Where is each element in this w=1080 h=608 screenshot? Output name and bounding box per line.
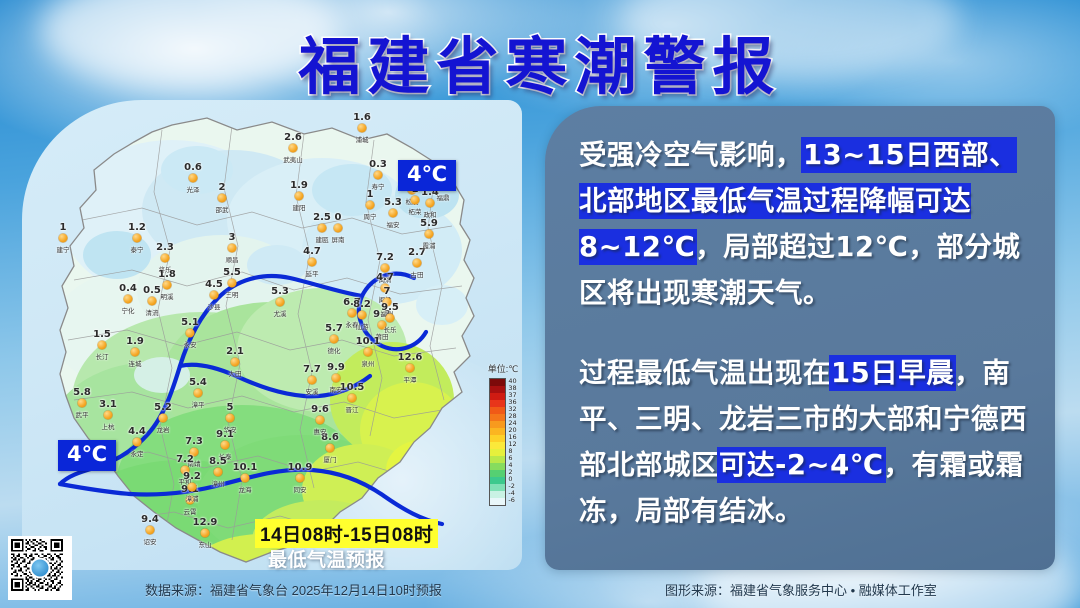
station-dot bbox=[231, 358, 240, 367]
legend-swatch bbox=[490, 442, 505, 449]
station-temperature: 3 bbox=[229, 232, 236, 243]
station-temperature: 2.5 bbox=[313, 212, 331, 223]
station-name: 清流 bbox=[146, 307, 159, 317]
station-dot bbox=[133, 438, 142, 447]
station-name: 大田 bbox=[229, 368, 242, 378]
station-name: 泰宁 bbox=[131, 244, 144, 254]
station-name: 同安 bbox=[294, 484, 307, 494]
station-temperature: 5.1 bbox=[181, 317, 199, 328]
station-dot bbox=[228, 244, 237, 253]
station-name: 武平 bbox=[76, 409, 89, 419]
qr-code[interactable] bbox=[8, 536, 72, 600]
station-temperature: 10.5 bbox=[340, 382, 365, 393]
station-name: 漳州 bbox=[212, 478, 225, 488]
station-dot bbox=[348, 394, 357, 403]
station-name: 三明 bbox=[226, 289, 239, 299]
station-name: 厦门 bbox=[324, 454, 337, 464]
station-name: 福安 bbox=[387, 219, 400, 229]
legend-tick-label: -6 bbox=[508, 497, 516, 504]
station-name: 光泽 bbox=[187, 184, 200, 194]
station-temperature: 9.5 bbox=[381, 302, 399, 313]
highlighted-text: 可达-2~4℃ bbox=[719, 449, 884, 481]
legend-swatch bbox=[490, 428, 505, 435]
station-dot bbox=[161, 254, 170, 263]
station-temperature: 0.6 bbox=[184, 162, 202, 173]
station-dot bbox=[131, 348, 140, 357]
station-temperature: 2 bbox=[219, 182, 226, 193]
legend-swatch bbox=[490, 484, 505, 491]
station-temperature: 4.7 bbox=[303, 246, 321, 257]
station-temperature: 12.9 bbox=[193, 517, 218, 528]
station-temperature: 5.9 bbox=[420, 218, 438, 229]
temperature-callout: 4℃ bbox=[398, 160, 456, 191]
qr-center-logo bbox=[30, 558, 51, 579]
station-name: 长乐 bbox=[384, 324, 397, 334]
station-name: 龙海 bbox=[239, 484, 252, 494]
station-name: 连城 bbox=[129, 358, 142, 368]
station-dot bbox=[426, 199, 435, 208]
station-name: 霞浦 bbox=[423, 240, 436, 250]
station-temperature: 9.1 bbox=[216, 429, 234, 440]
station-temperature: 8.2 bbox=[353, 299, 371, 310]
station-name: 长汀 bbox=[96, 351, 109, 361]
station-temperature: 5.5 bbox=[223, 267, 241, 278]
station-dot bbox=[186, 329, 195, 338]
station-dot bbox=[358, 124, 367, 133]
footer-graphic-source: 图形来源：福建省气象服务中心 • 融媒体工作室 bbox=[665, 580, 937, 599]
legend-ticks: 4038373632282420161286420-2-4-6 bbox=[508, 378, 516, 506]
legend-swatch bbox=[490, 435, 505, 442]
station-temperature: 2.1 bbox=[226, 346, 244, 357]
legend-swatch bbox=[490, 386, 505, 393]
station-dot bbox=[226, 414, 235, 423]
station-temperature: 9.4 bbox=[141, 514, 159, 525]
station-dot bbox=[334, 224, 343, 233]
station-dot bbox=[374, 171, 383, 180]
station-temperature: 12.6 bbox=[398, 352, 423, 363]
legend-colorbar bbox=[489, 378, 506, 506]
station-dot bbox=[148, 297, 157, 306]
station-temperature: 1.5 bbox=[93, 329, 111, 340]
station-name: 建瓯 bbox=[316, 234, 329, 244]
station-temperature: 5.7 bbox=[325, 323, 343, 334]
station-name: 安溪 bbox=[306, 386, 319, 396]
station-name: 漳平 bbox=[192, 399, 205, 409]
station-dot bbox=[241, 474, 250, 483]
station-temperature: 7.2 bbox=[176, 454, 194, 465]
station-dot bbox=[295, 192, 304, 201]
station-temperature: 1.8 bbox=[158, 269, 176, 280]
station-dot bbox=[228, 279, 237, 288]
station-dot bbox=[308, 258, 317, 267]
station-dot bbox=[194, 389, 203, 398]
station-dot bbox=[189, 174, 198, 183]
station-dot bbox=[366, 201, 375, 210]
station-temperature: 10.1 bbox=[356, 336, 381, 347]
station-dot bbox=[330, 335, 339, 344]
station-dot bbox=[389, 209, 398, 218]
station-name: 仙游 bbox=[356, 321, 369, 331]
station-temperature: 2.3 bbox=[156, 242, 174, 253]
station-name: 延平 bbox=[306, 268, 319, 278]
station-dot bbox=[201, 529, 210, 538]
legend-swatch bbox=[490, 491, 505, 498]
station-temperature: 5.8 bbox=[73, 387, 91, 398]
station-name: 上杭 bbox=[102, 421, 115, 431]
station-temperature: 5.3 bbox=[384, 197, 402, 208]
station-temperature: 4.4 bbox=[128, 426, 146, 437]
station-name: 永定 bbox=[131, 448, 144, 458]
station-dot bbox=[364, 348, 373, 357]
station-name: 建阳 bbox=[293, 202, 306, 212]
station-name: 福鼎 bbox=[437, 192, 450, 202]
station-dot bbox=[326, 444, 335, 453]
station-dot bbox=[59, 234, 68, 243]
station-dot bbox=[358, 311, 367, 320]
station-temperature: 7 bbox=[384, 286, 391, 297]
station-temperature: 2.6 bbox=[284, 132, 302, 143]
station-dot bbox=[210, 291, 219, 300]
station-name: 周宁 bbox=[364, 211, 377, 221]
infographic-root: 福建省寒潮警报 bbox=[0, 0, 1080, 608]
station-dot bbox=[218, 194, 227, 203]
station-temperature: 5 bbox=[227, 402, 234, 413]
station-temperature: 0.5 bbox=[143, 285, 161, 296]
station-dot bbox=[296, 474, 305, 483]
station-temperature: 5.4 bbox=[189, 377, 207, 388]
station-temperature: 1.6 bbox=[353, 112, 371, 123]
station-dot bbox=[221, 441, 230, 450]
station-name: 尤溪 bbox=[274, 308, 287, 318]
legend-swatch bbox=[490, 400, 505, 407]
station-dot bbox=[146, 526, 155, 535]
text-panel: 受强冷空气影响，13~15日西部、北部地区最低气温过程降幅可达8~12℃，局部超… bbox=[545, 106, 1055, 570]
station-dot bbox=[386, 314, 395, 323]
station-dot bbox=[159, 414, 168, 423]
station-dot bbox=[124, 295, 133, 304]
station-name: 晋江 bbox=[346, 404, 359, 414]
station-temperature: 1.2 bbox=[128, 222, 146, 233]
station-dot bbox=[78, 399, 87, 408]
station-temperature: 3.1 bbox=[99, 399, 117, 410]
legend-swatch bbox=[490, 498, 505, 505]
body-text: 过程最低气温出现在 bbox=[579, 357, 831, 389]
legend-swatch bbox=[490, 456, 505, 463]
station-name: 东山 bbox=[199, 539, 212, 549]
station-dot bbox=[289, 144, 298, 153]
station-name: 屏南 bbox=[332, 234, 345, 244]
legend-swatch bbox=[490, 477, 505, 484]
legend-swatch bbox=[490, 463, 505, 470]
station-name: 柘荣 bbox=[409, 206, 422, 216]
highlighted-text: 15日早晨 bbox=[831, 357, 954, 389]
station-temperature: 5.3 bbox=[271, 286, 289, 297]
station-temperature: 0.3 bbox=[369, 159, 387, 170]
station-dot bbox=[411, 196, 420, 205]
station-dot bbox=[276, 298, 285, 307]
station-name: 云霄 bbox=[184, 506, 197, 516]
station-name: 顺昌 bbox=[226, 254, 239, 264]
station-dot bbox=[163, 281, 172, 290]
station-dot bbox=[104, 411, 113, 420]
station-name: 诏安 bbox=[144, 536, 157, 546]
legend-swatch bbox=[490, 449, 505, 456]
station-temperature: 9.6 bbox=[311, 404, 329, 415]
station-name: 德化 bbox=[328, 345, 341, 355]
station-dot bbox=[214, 468, 223, 477]
paragraph-2: 过程最低气温出现在15日早晨，南平、三明、龙岩三市的大部和宁德西部北部城区可达-… bbox=[579, 350, 1031, 534]
station-temperature: 8.5 bbox=[209, 456, 227, 467]
station-temperature: 7.2 bbox=[376, 252, 394, 263]
legend-swatch bbox=[490, 379, 505, 386]
station-name: 浦城 bbox=[356, 134, 369, 144]
body-text: 受强冷空气影响， bbox=[579, 139, 803, 171]
station-temperature: 1 bbox=[367, 189, 374, 200]
station-name: 平潭 bbox=[404, 374, 417, 384]
station-dot bbox=[133, 234, 142, 243]
legend-swatch bbox=[490, 414, 505, 421]
legend-swatch bbox=[490, 470, 505, 477]
station-name: 永安 bbox=[184, 339, 197, 349]
station-temperature: 1.9 bbox=[126, 336, 144, 347]
station-dot bbox=[98, 341, 107, 350]
legend-title: 单位:℃ bbox=[476, 362, 522, 375]
station-temperature: 0 bbox=[335, 212, 342, 223]
station-temperature: 1 bbox=[60, 222, 67, 233]
station-name: 武夷山 bbox=[283, 154, 303, 164]
station-temperature: 9.9 bbox=[327, 362, 345, 373]
station-temperature: 4.5 bbox=[205, 279, 223, 290]
temperature-legend: 单位:℃ 4038373632282420161286420-2-4-6 bbox=[476, 362, 522, 506]
station-name: 惠安 bbox=[314, 426, 327, 436]
station-name: 泉州 bbox=[362, 358, 375, 368]
station-name: 建宁 bbox=[57, 244, 70, 254]
temperature-callout: 4℃ bbox=[58, 440, 116, 471]
station-dot bbox=[413, 259, 422, 268]
station-temperature: 5.2 bbox=[154, 402, 172, 413]
station-temperature: 7.7 bbox=[303, 364, 321, 375]
station-temperature: 9.2 bbox=[183, 471, 201, 482]
station-temperature: 0.4 bbox=[119, 283, 137, 294]
station-name: 古田 bbox=[411, 269, 424, 279]
footer: 数据来源：福建省气象台 2025年12月14日10时预报 图形来源：福建省气象服… bbox=[0, 568, 1080, 608]
station-temperature: 1.9 bbox=[290, 180, 308, 191]
station-dot bbox=[188, 483, 197, 492]
legend-swatch bbox=[490, 393, 505, 400]
map-caption-range: 14日08时-15日08时 bbox=[255, 519, 438, 548]
station-temperature: 4.7 bbox=[376, 272, 394, 283]
station-dot bbox=[318, 224, 327, 233]
legend-swatch bbox=[490, 407, 505, 414]
station-name: 漳浦 bbox=[186, 493, 199, 503]
station-dot bbox=[316, 416, 325, 425]
station-name: 宁化 bbox=[122, 305, 135, 315]
station-name: 龙岩 bbox=[157, 424, 170, 434]
station-temperature: 10.9 bbox=[288, 462, 313, 473]
station-temperature: 10.1 bbox=[233, 462, 258, 473]
station-dot bbox=[308, 376, 317, 385]
page-title: 福建省寒潮警报 bbox=[0, 16, 1080, 106]
legend-swatch bbox=[490, 421, 505, 428]
station-dot bbox=[425, 230, 434, 239]
station-dot bbox=[406, 364, 415, 373]
paragraph-1: 受强冷空气影响，13~15日西部、北部地区最低气温过程降幅可达8~12℃，局部超… bbox=[579, 132, 1031, 316]
station-name: 沙县 bbox=[208, 301, 221, 311]
footer-data-source: 数据来源：福建省气象台 2025年12月14日10时预报 bbox=[145, 580, 442, 599]
station-name: 明溪 bbox=[161, 291, 174, 301]
station-name: 邵武 bbox=[216, 204, 229, 214]
station-temperature: 7.3 bbox=[185, 436, 203, 447]
